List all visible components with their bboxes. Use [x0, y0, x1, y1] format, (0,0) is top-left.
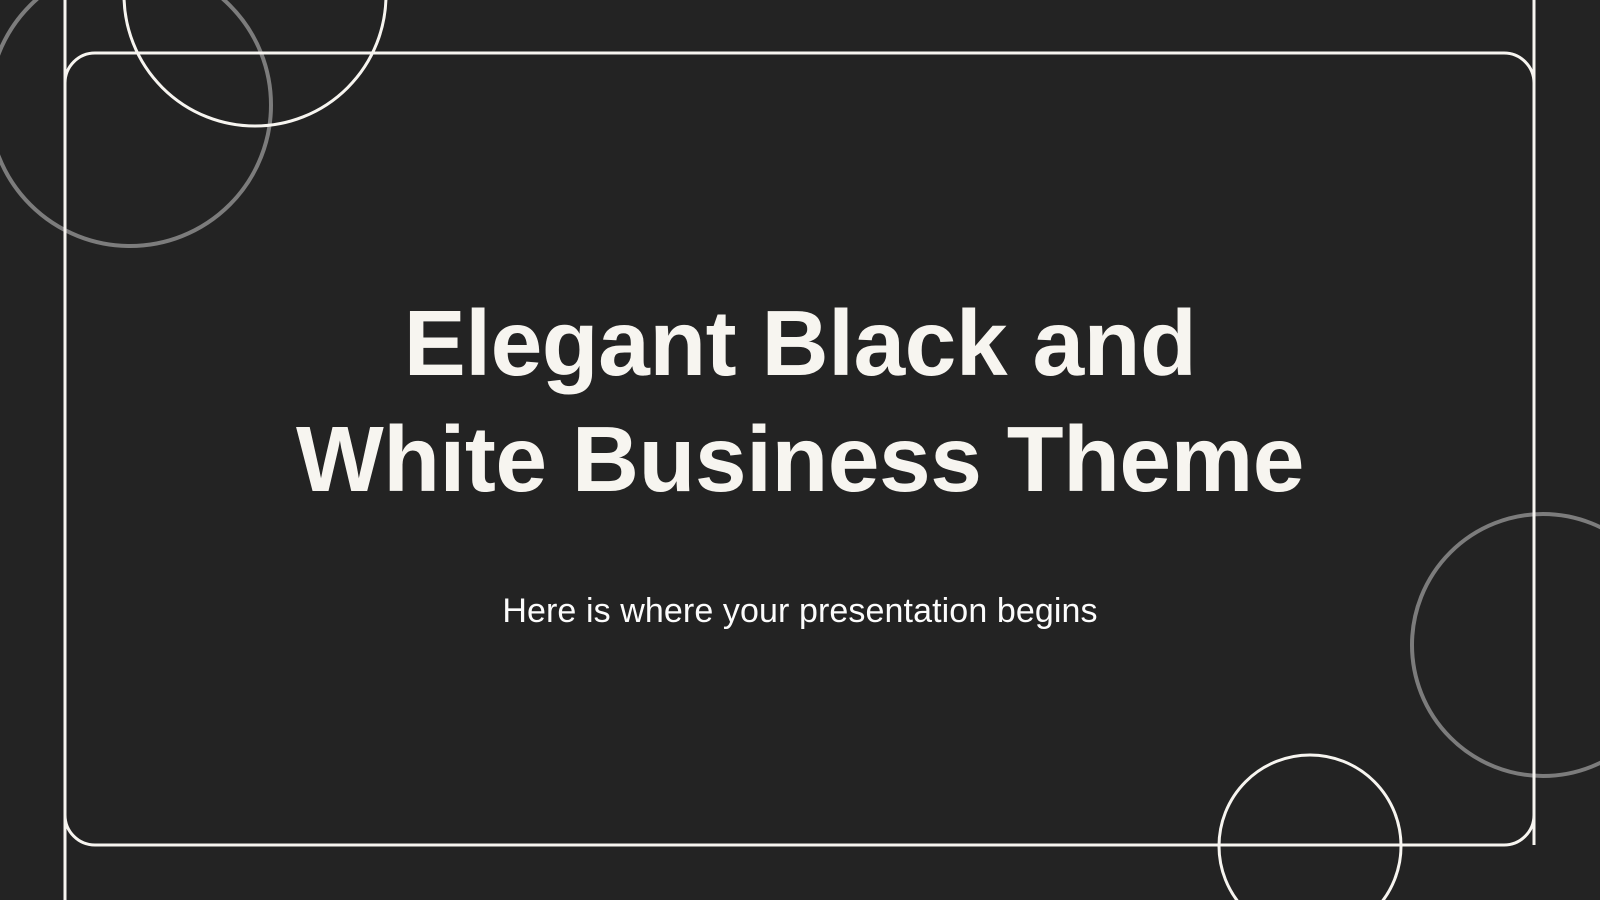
- slide-text-block: Elegant Black and White Business Theme H…: [0, 0, 1600, 900]
- slide-subtitle: Here is where your presentation begins: [235, 517, 1365, 633]
- presentation-slide: Elegant Black and White Business Theme H…: [0, 0, 1600, 900]
- page-title: Elegant Black and White Business Theme: [235, 285, 1365, 518]
